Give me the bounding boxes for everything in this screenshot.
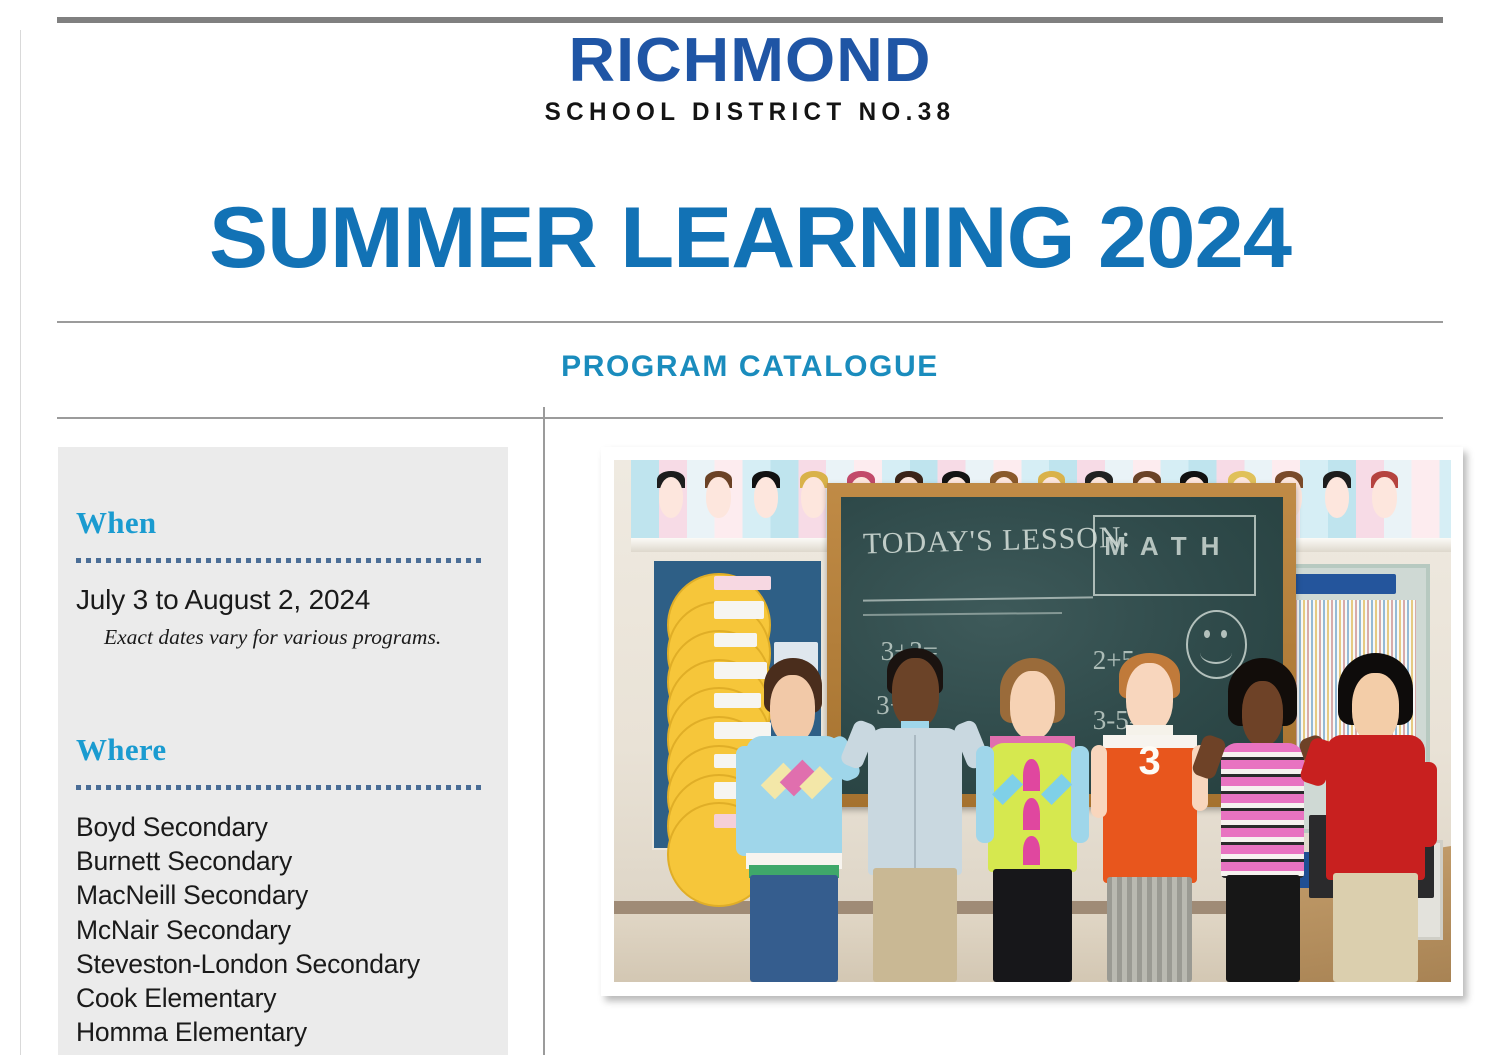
cover-photo-frame: TODAY'S LESSON: MATH 3+3= 3+2= 3+1 2+5=: [601, 447, 1463, 996]
list-item: Cook Elementary: [76, 981, 486, 1015]
page-title: SUMMER LEARNING 2024: [0, 189, 1500, 288]
logo-wordmark: RICHMOND: [0, 30, 1500, 92]
header-rule-bottom: [57, 417, 1443, 419]
child-1: [731, 658, 857, 982]
child-2: [857, 648, 974, 982]
when-note: Exact dates vary for various programs.: [104, 625, 486, 650]
poster-title-bar: [1289, 574, 1396, 595]
chalkboard-lesson-text: TODAY'S LESSON:: [863, 520, 1132, 561]
child-6: [1317, 653, 1434, 982]
where-heading: Where: [76, 732, 486, 768]
where-dotted-rule: [76, 785, 486, 790]
list-item: Burnett Secondary: [76, 844, 486, 878]
top-grey-bar: [57, 17, 1443, 23]
when-section: When July 3 to August 2, 2024 Exact date…: [58, 505, 508, 650]
chalk-underline: [863, 612, 1062, 616]
column-divider: [543, 407, 545, 1055]
school-list: Boyd Secondary Burnett Secondary MacNeil…: [76, 810, 486, 1049]
list-item: Boyd Secondary: [76, 810, 486, 844]
logo-subtext: SCHOOL DISTRICT NO.38: [23, 98, 1478, 127]
child-4: 3: [1091, 653, 1208, 982]
list-item: McNair Secondary: [76, 913, 486, 947]
chalkboard-subject-box: MATH: [1093, 515, 1256, 596]
chalk-underline: [863, 596, 1093, 601]
when-heading: When: [76, 505, 486, 541]
info-sidebar: When July 3 to August 2, 2024 Exact date…: [58, 447, 508, 1055]
list-item: Homma Elementary: [76, 1015, 486, 1049]
where-section: Where Boyd Secondary Burnett Secondary M…: [58, 732, 508, 1049]
list-item: Steveston-London Secondary: [76, 947, 486, 981]
when-dates: July 3 to August 2, 2024: [76, 584, 486, 616]
chalkboard-subject-text: MATH: [1104, 531, 1233, 562]
left-margin-rule: [20, 30, 21, 1055]
classroom-photo: TODAY'S LESSON: MATH 3+3= 3+2= 3+1 2+5=: [614, 460, 1451, 982]
header-rule-top: [57, 321, 1443, 323]
when-dotted-rule: [76, 558, 486, 563]
child-5: [1208, 658, 1317, 982]
child-3: [974, 658, 1091, 982]
list-item: MacNeill Secondary: [76, 878, 486, 912]
page-subtitle: PROGRAM CATALOGUE: [0, 350, 1500, 384]
district-logo: RICHMOND SCHOOL DISTRICT NO.38: [0, 30, 1500, 127]
jersey-number: 3: [1139, 739, 1161, 784]
catalogue-cover-page: RICHMOND SCHOOL DISTRICT NO.38 SUMMER LE…: [0, 0, 1500, 1055]
